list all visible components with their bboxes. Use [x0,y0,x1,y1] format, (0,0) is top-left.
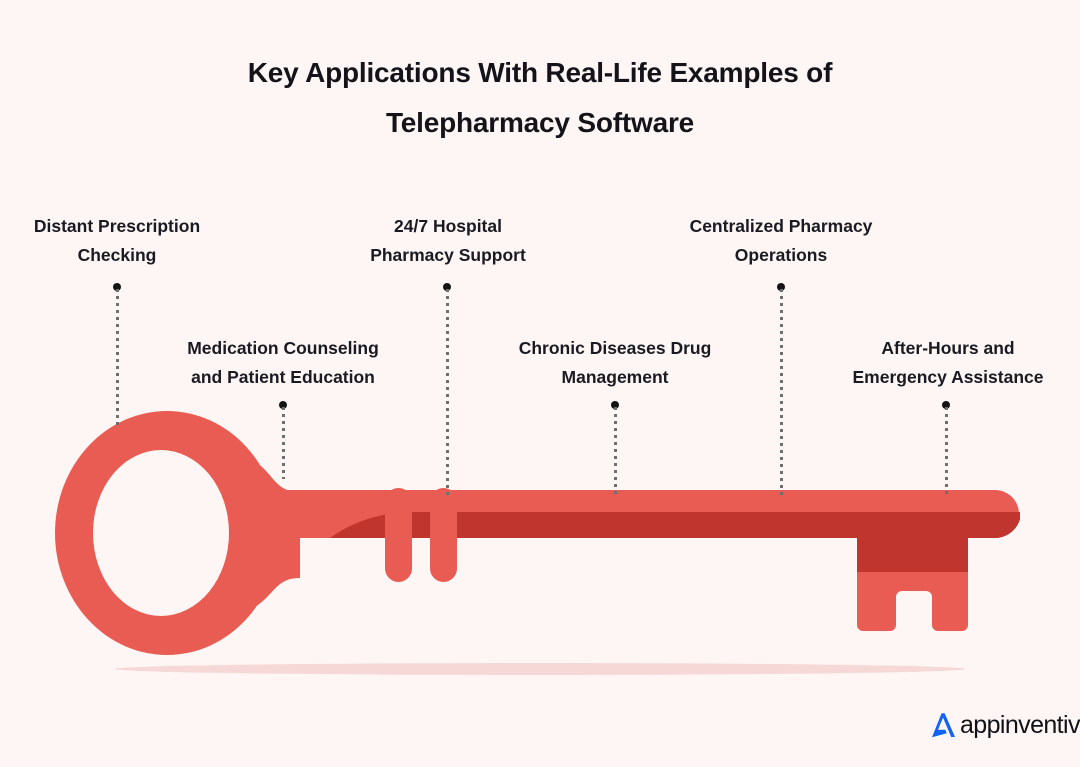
callout-label-chronic-diseases-drug-management: Chronic Diseases Drug Management [505,334,725,392]
a-chevron-icon [925,708,959,742]
leader-line-5 [780,289,783,497]
key-collar-2 [430,488,457,582]
callout-label-medication-counseling-and-patient-education: Medication Counseling and Patient Educat… [173,334,393,392]
callout-label-after-hours-and-emergency-assistance: After-Hours and Emergency Assistance [838,334,1058,392]
teeth-shadow [857,538,968,572]
infographic-canvas: Key Applications With Real-Life Examples… [0,0,1080,767]
key-body [55,411,1020,655]
key-head-hole [93,450,229,616]
leader-line-1 [116,289,119,426]
leader-line-6 [945,407,948,497]
leader-line-2 [282,407,285,479]
leader-line-3 [446,289,449,496]
callout-label-distant-prescription-checking: Distant Prescription Checking [17,212,217,270]
appinventiv-logo: appinventiv [925,705,1080,745]
key-collar-1 [385,488,412,582]
appinventiv-logo-text: appinventiv [960,708,1080,742]
callout-label-24-7-hospital-pharmacy-support: 24/7 Hospital Pharmacy Support [357,212,539,270]
callout-label-centralized-pharmacy-operations: Centralized Pharmacy Operations [672,212,890,270]
leader-line-4 [614,407,617,497]
ground-shadow [115,663,965,675]
